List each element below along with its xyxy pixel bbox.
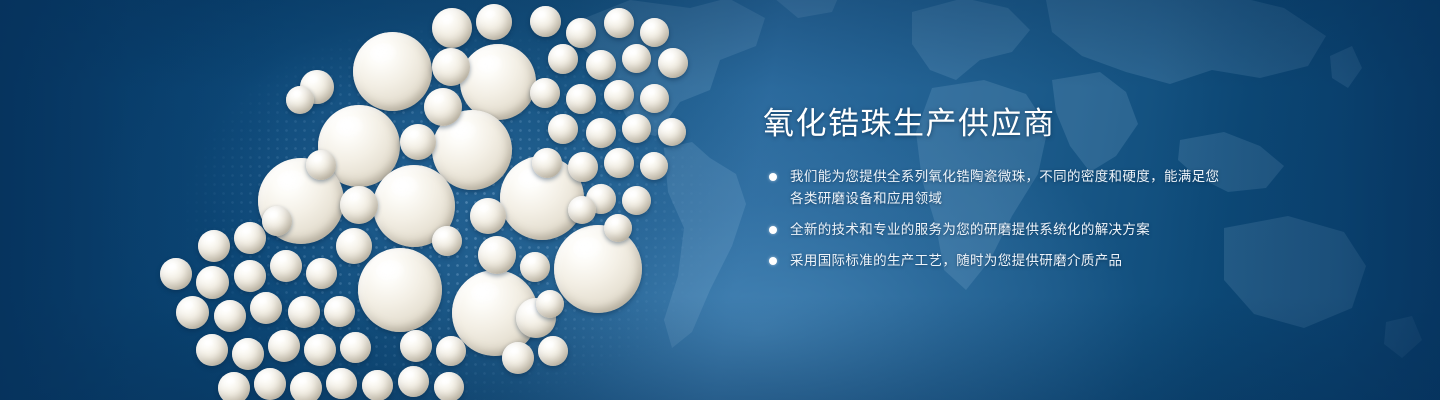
bead-small: [530, 78, 560, 108]
bead-small: [288, 296, 320, 328]
bead-small: [290, 372, 322, 400]
bead-small: [658, 48, 688, 78]
bead-large: [554, 225, 642, 313]
bead-small: [234, 222, 266, 254]
bead-small: [622, 186, 651, 215]
bead-medium: [478, 236, 516, 274]
bead-large: [358, 248, 442, 332]
bead-small: [262, 206, 292, 236]
feature-list: 我们能为您提供全系列氧化锆陶瓷微珠，不同的密度和硬度，能满足您各类研磨设备和应用…: [763, 166, 1383, 272]
bead-small: [306, 150, 336, 180]
bead-small: [530, 6, 561, 37]
bullet-dot-icon: [769, 257, 777, 265]
bullet-dot-icon: [769, 173, 777, 181]
bead-small: [362, 370, 393, 400]
bead-medium: [340, 186, 378, 224]
bead-large: [353, 32, 432, 111]
bead-small: [604, 148, 634, 178]
bead-small: [432, 226, 462, 256]
bead-small: [586, 118, 616, 148]
bead-small: [566, 84, 596, 114]
bead-small: [658, 118, 686, 146]
bead-small: [160, 258, 192, 290]
bead-small: [622, 44, 651, 73]
bead-medium: [470, 198, 506, 234]
bead-small: [268, 330, 300, 362]
bead-small: [532, 148, 562, 178]
bead-small: [622, 114, 651, 143]
bead-small: [536, 290, 564, 318]
bead-medium: [432, 48, 470, 86]
bead-small: [304, 334, 336, 366]
bead-small: [604, 80, 634, 110]
list-item: 全新的技术和专业的服务为您的研磨提供系统化的解决方案: [763, 219, 1220, 241]
bead-small: [566, 18, 596, 48]
list-item-label: 全新的技术和专业的服务为您的研磨提供系统化的解决方案: [790, 222, 1150, 237]
bead-small: [234, 260, 266, 292]
bead-medium: [336, 228, 372, 264]
bead-small: [198, 230, 230, 262]
bead-small: [604, 8, 634, 38]
bead-small: [270, 250, 302, 282]
bead-small: [254, 368, 286, 400]
bead-small: [324, 296, 355, 327]
bead-small: [398, 366, 429, 397]
bead-small: [520, 252, 550, 282]
bead-small: [218, 372, 250, 400]
bead-small: [176, 296, 209, 329]
list-item: 采用国际标准的生产工艺，随时为您提供研磨介质产品: [763, 250, 1220, 272]
bead-medium: [400, 124, 436, 160]
bead-medium: [424, 88, 462, 126]
bead-small: [340, 332, 371, 363]
bead-small: [640, 84, 669, 113]
bead-small: [400, 330, 432, 362]
bead-small: [548, 114, 578, 144]
hero-banner: 氧化锆珠生产供应商 我们能为您提供全系列氧化锆陶瓷微珠，不同的密度和硬度，能满足…: [0, 0, 1440, 400]
bead-small: [502, 342, 534, 374]
list-item-label: 我们能为您提供全系列氧化锆陶瓷微珠，不同的密度和硬度，能满足您各类研磨设备和应用…: [790, 169, 1219, 206]
bead-small: [640, 18, 669, 47]
bead-small: [568, 152, 598, 182]
list-item-label: 采用国际标准的生产工艺，随时为您提供研磨介质产品: [790, 253, 1122, 268]
bead-medium: [432, 8, 472, 48]
bead-small: [548, 44, 578, 74]
bead-small: [232, 338, 264, 370]
bead-small: [250, 292, 282, 324]
bead-small: [434, 372, 464, 400]
list-item: 我们能为您提供全系列氧化锆陶瓷微珠，不同的密度和硬度，能满足您各类研磨设备和应用…: [763, 166, 1220, 210]
bead-small: [196, 266, 229, 299]
bead-large: [460, 44, 536, 120]
bead-small: [326, 368, 357, 399]
bead-small: [586, 50, 616, 80]
zirconia-bead-cluster-image: [0, 0, 760, 400]
bead-small: [604, 214, 632, 242]
bead-small: [436, 336, 466, 366]
bullet-dot-icon: [769, 226, 777, 234]
bead-medium: [476, 4, 512, 40]
bead-small: [640, 152, 668, 180]
bead-small: [214, 300, 246, 332]
page-title: 氧化锆珠生产供应商: [763, 104, 1383, 144]
bead-small: [538, 336, 568, 366]
bead-small: [286, 86, 314, 114]
bead-small: [196, 334, 228, 366]
bead-small: [306, 258, 337, 289]
bead-small: [568, 196, 596, 224]
banner-copy: 氧化锆珠生产供应商 我们能为您提供全系列氧化锆陶瓷微珠，不同的密度和硬度，能满足…: [763, 104, 1383, 272]
